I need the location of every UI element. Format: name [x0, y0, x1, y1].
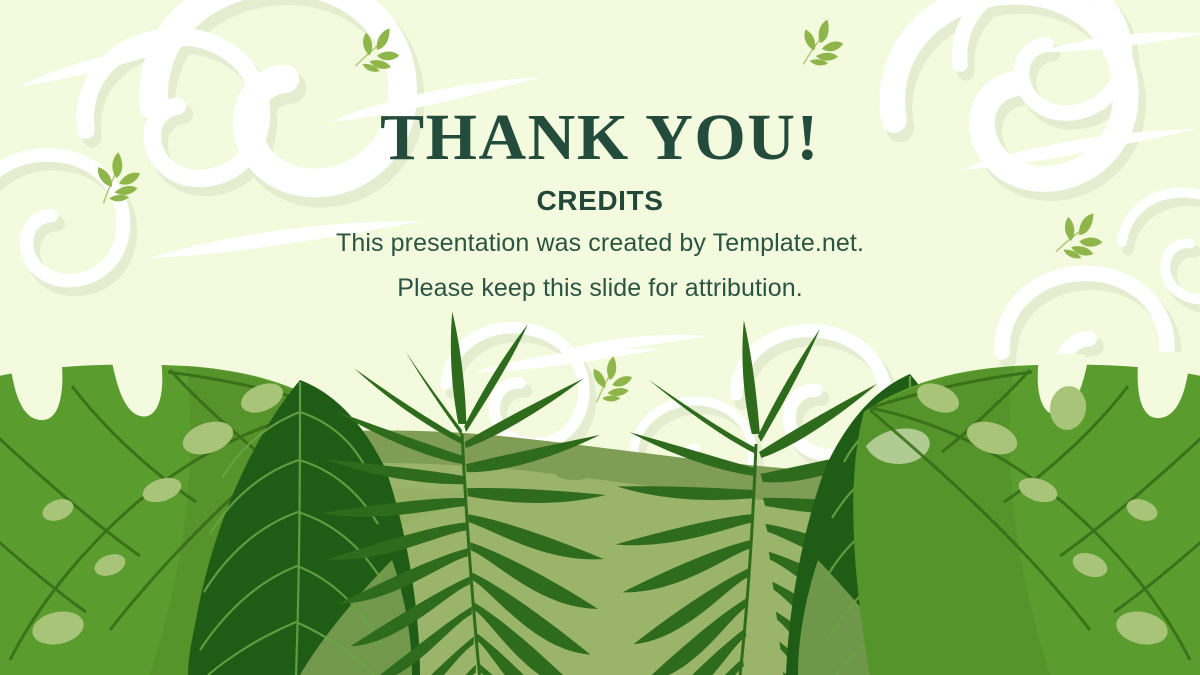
- slide-text-block: THANK YOU! CREDITS This presentation was…: [0, 104, 1200, 303]
- credits-heading: CREDITS: [0, 185, 1200, 217]
- slide-canvas: THANK YOU! CREDITS This presentation was…: [0, 0, 1200, 675]
- page-title: THANK YOU!: [0, 104, 1200, 171]
- leaflet-top-center: [355, 25, 403, 75]
- leaflet-mid-center: [587, 353, 637, 405]
- credits-line-1: This presentation was created by Templat…: [0, 229, 1200, 258]
- credits-line-2: Please keep this slide for attribution.: [0, 274, 1200, 303]
- leaflet-top-right: [799, 18, 845, 67]
